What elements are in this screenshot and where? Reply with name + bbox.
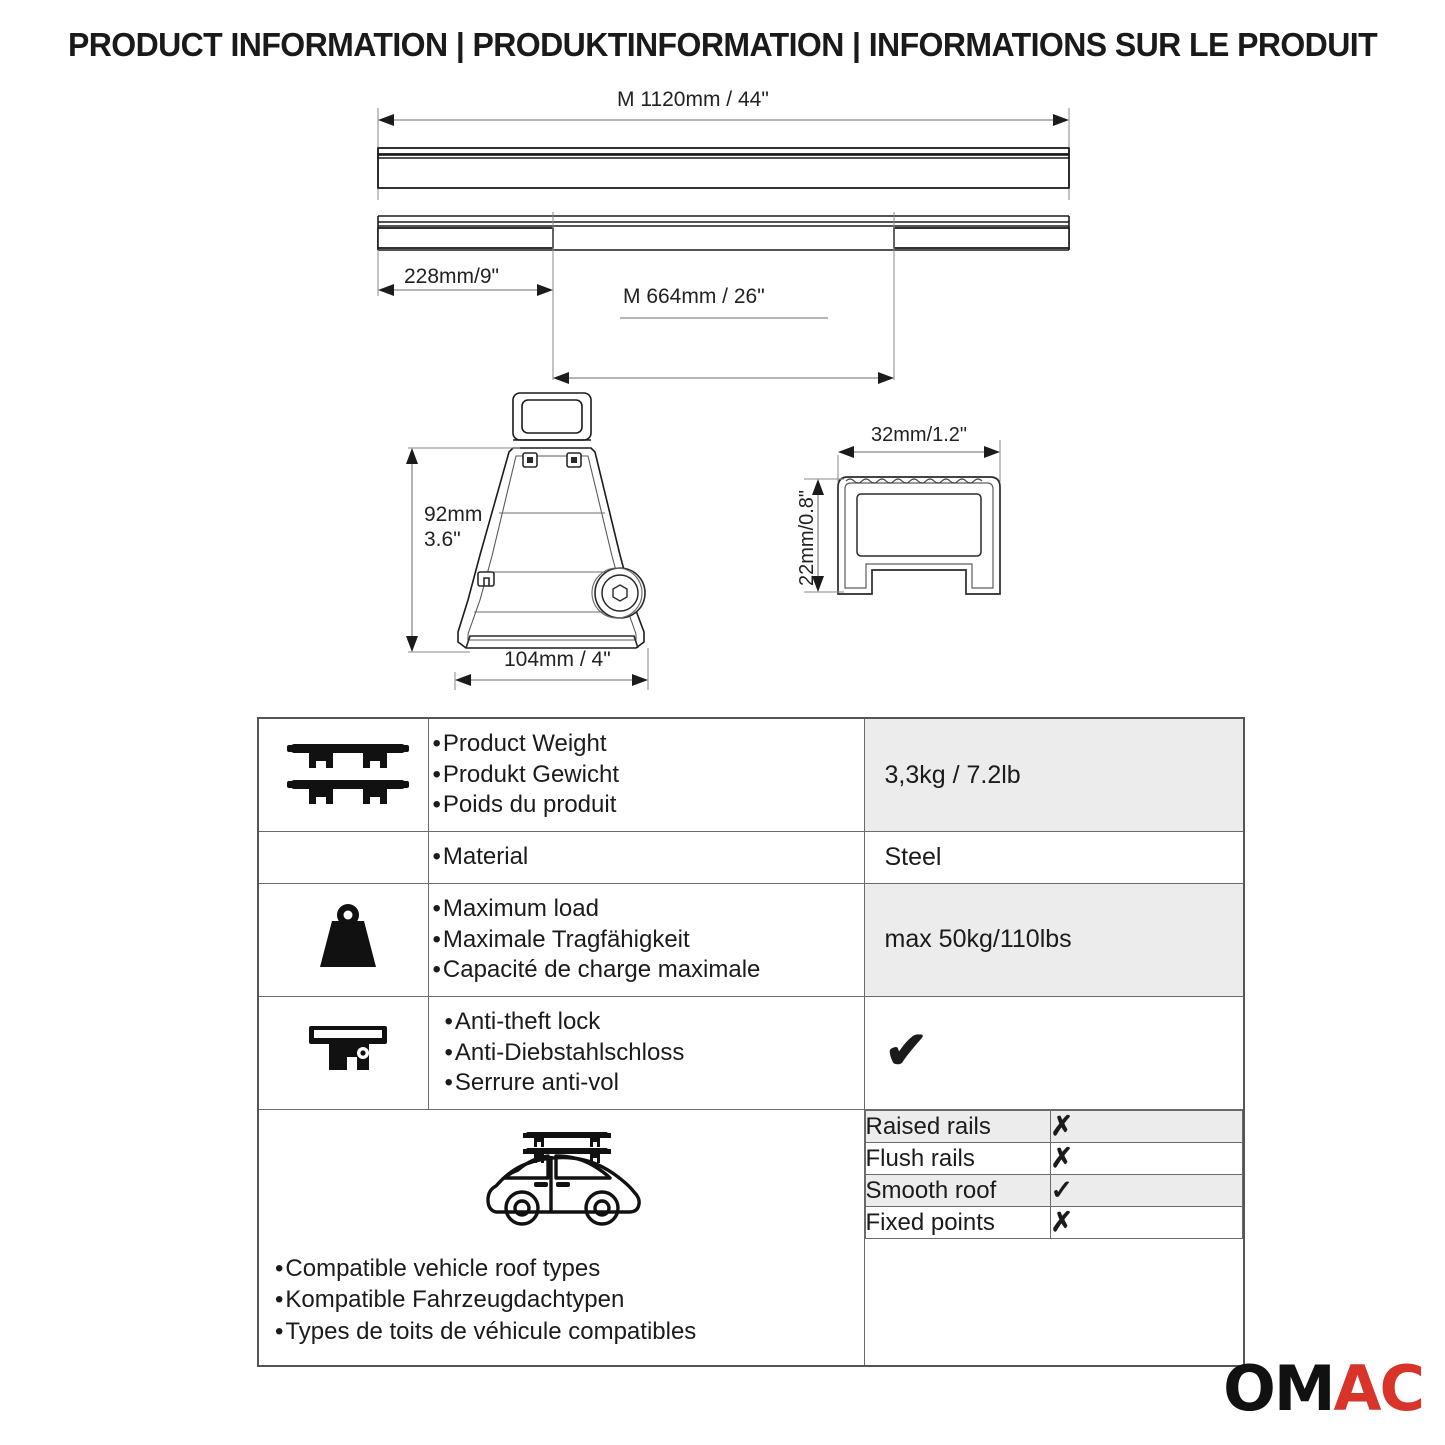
label-fr: Capacité de charge maximale <box>433 955 858 986</box>
logo-text-red: AC <box>1334 1352 1423 1425</box>
material-value: Steel <box>864 832 1244 884</box>
roof-type-row: Flush rails ✗ <box>865 1143 1243 1175</box>
label-en: Anti-theft lock <box>445 1007 858 1038</box>
dim-foot-height-in: 3.6" <box>424 528 461 552</box>
dim-profile-width: 32mm/1.2" <box>871 424 967 447</box>
table-row: Product Weight Produkt Gewicht Poids du … <box>258 718 1244 832</box>
roof-type-name: Fixed points <box>865 1207 1050 1239</box>
product-weight-labels: Product Weight Produkt Gewicht Poids du … <box>428 718 864 832</box>
roof-type-mark: ✗ <box>1050 1143 1243 1175</box>
label-fr: Types de toits de véhicule compatibles <box>275 1316 854 1347</box>
label-de: Kompatible Fahrzeugdachtypen <box>275 1284 854 1315</box>
label-de: Anti-Diebstahlschloss <box>445 1038 858 1069</box>
maximum-load-value: max 50kg/110lbs <box>864 883 1244 996</box>
roof-type-name: Flush rails <box>865 1143 1050 1175</box>
roof-types-description: Compatible vehicle roof types Kompatible… <box>258 1110 864 1366</box>
product-weight-value: 3,3kg / 7.2lb <box>864 718 1244 832</box>
table-row: Compatible vehicle roof types Kompatible… <box>258 1110 1244 1366</box>
weight-icon-cell <box>258 883 428 996</box>
roof-types-options: Raised rails ✗ Flush rails ✗ Smooth roof… <box>864 1110 1244 1366</box>
label-en: Material <box>433 842 858 873</box>
dim-foot-width: 104mm / 4" <box>504 648 611 672</box>
maximum-load-labels: Maximum load Maximale Tragfähigkeit Capa… <box>428 883 864 996</box>
roof-type-mark: ✓ <box>1050 1175 1243 1207</box>
dim-bar-spread: M 664mm / 26" <box>623 285 765 309</box>
label-en: Compatible vehicle roof types <box>275 1253 854 1284</box>
label-en: Maximum load <box>433 894 858 925</box>
material-icon-cell <box>258 832 428 884</box>
roof-rack-icon <box>287 738 409 808</box>
weight-icon <box>313 901 383 973</box>
roof-type-row: Smooth roof ✓ <box>865 1175 1243 1207</box>
table-row: Maximum load Maximale Tragfähigkeit Capa… <box>258 883 1244 996</box>
lock-icon <box>305 1020 391 1082</box>
specification-table: Product Weight Produkt Gewicht Poids du … <box>257 717 1245 1367</box>
label-de: Maximale Tragfähigkeit <box>433 925 858 956</box>
roof-rack-icon-cell <box>258 718 428 832</box>
dim-bar-total-length: M 1120mm / 44" <box>617 88 769 112</box>
car-with-rack-icon <box>474 1126 654 1238</box>
roof-type-name: Raised rails <box>865 1111 1050 1143</box>
check-icon: ✔ <box>885 1031 929 1073</box>
roof-type-mark: ✗ <box>1050 1207 1243 1239</box>
table-row: Anti-theft lock Anti-Diebstahlschloss Se… <box>258 997 1244 1110</box>
roof-type-name: Smooth roof <box>865 1175 1050 1207</box>
technical-drawing: M 1120mm / 44" 228mm/9" M 664mm / 26" 92… <box>0 0 1445 710</box>
dim-foot-height-mm: 92mm <box>424 503 482 527</box>
label-fr: Serrure anti-vol <box>445 1068 858 1099</box>
label-de: Produkt Gewicht <box>433 760 858 791</box>
omac-logo: OMAC <box>1223 1358 1423 1420</box>
roof-type-mark: ✗ <box>1050 1111 1243 1143</box>
table-row: Material Steel <box>258 832 1244 884</box>
anti-theft-value: ✔ <box>864 997 1244 1110</box>
anti-theft-labels: Anti-theft lock Anti-Diebstahlschloss Se… <box>428 997 864 1110</box>
label-en: Product Weight <box>433 729 858 760</box>
roof-type-row: Raised rails ✗ <box>865 1111 1243 1143</box>
roof-type-row: Fixed points ✗ <box>865 1207 1243 1239</box>
label-fr: Poids du produit <box>433 790 858 821</box>
material-labels: Material <box>428 832 864 884</box>
logo-text-dark: OM <box>1223 1352 1333 1425</box>
dim-profile-height: 22mm/0.8" <box>796 490 819 586</box>
roof-type-subtable: Raised rails ✗ Flush rails ✗ Smooth roof… <box>865 1110 1244 1239</box>
lock-icon-cell <box>258 997 428 1110</box>
dim-foot-offset: 228mm/9" <box>404 265 499 289</box>
